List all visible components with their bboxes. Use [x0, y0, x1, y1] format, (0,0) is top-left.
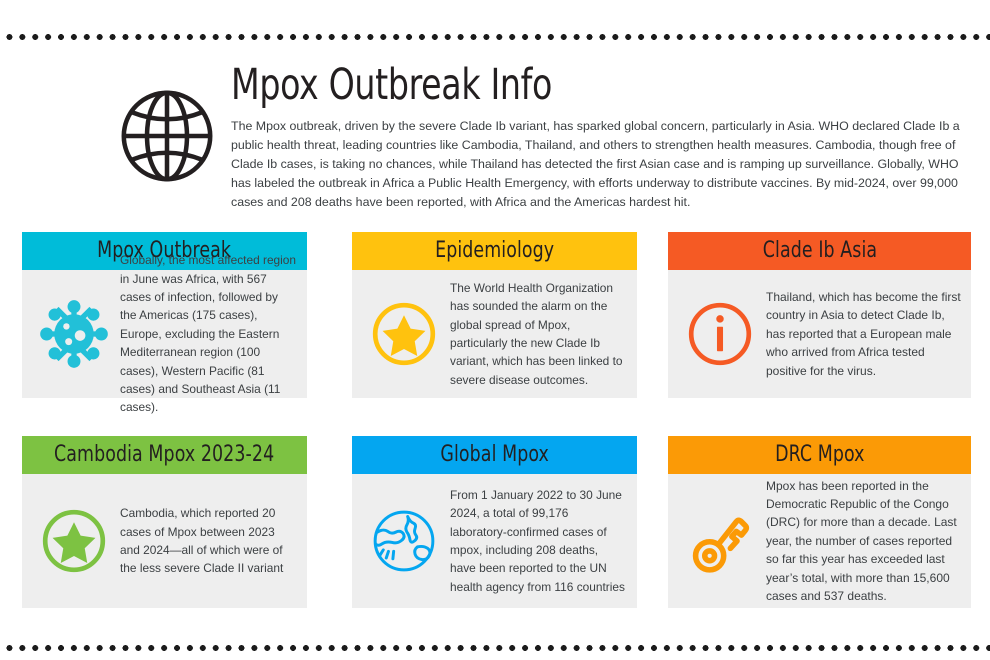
card-drc-mpox[interactable]: DRC Mpox Mpox has been reported in the D… [668, 436, 971, 608]
card-header-clade-ib-asia: Clade Ib Asia [668, 232, 971, 270]
page-title: Mpox Outbreak Info [231, 60, 867, 110]
card-body: Globally, the most affected region in Ju… [22, 270, 307, 398]
infographic-page: Mpox Outbreak Info The Mpox outbreak, dr… [0, 0, 990, 660]
card-title: DRC Mpox [775, 436, 864, 474]
info-circle-icon [674, 288, 766, 380]
card-text: Globally, the most affected region in Ju… [120, 251, 297, 417]
card-header-cambodia-mpox: Cambodia Mpox 2023-24 [22, 436, 307, 474]
card-header-epidemiology: Epidemiology [352, 232, 637, 270]
card-header-global-mpox: Global Mpox [352, 436, 637, 474]
world-globe-icon [358, 495, 450, 587]
card-epidemiology[interactable]: Epidemiology The World Health Organizati… [352, 232, 637, 398]
star-circle-icon [358, 288, 450, 380]
card-title: Cambodia Mpox 2023-24 [54, 436, 274, 474]
bottom-dotted-border [0, 645, 990, 651]
page-header: Mpox Outbreak Info The Mpox outbreak, dr… [0, 60, 990, 210]
card-header-drc-mpox: DRC Mpox [668, 436, 971, 474]
card-clade-ib-asia[interactable]: Clade Ib Asia Thailand, which has become… [668, 232, 971, 398]
card-title: Clade Ib Asia [762, 232, 876, 270]
star-circle-icon [28, 495, 120, 587]
card-body: Mpox has been reported in the Democratic… [668, 474, 971, 608]
card-text: Mpox has been reported in the Democratic… [766, 477, 961, 606]
card-body: Cambodia, which reported 20 cases of Mpo… [22, 474, 307, 608]
globe-icon [113, 82, 221, 190]
card-title: Mpox Outbreak [98, 232, 232, 270]
card-title: Global Mpox [440, 436, 549, 474]
card-text: From 1 January 2022 to 30 June 2024, a t… [450, 486, 627, 596]
virus-icon [28, 288, 120, 380]
card-text: Cambodia, which reported 20 cases of Mpo… [120, 504, 297, 578]
card-text: Thailand, which has become the first cou… [766, 288, 961, 380]
card-cambodia-mpox[interactable]: Cambodia Mpox 2023-24 Cambodia, which re… [22, 436, 307, 608]
card-title: Epidemiology [435, 232, 554, 270]
card-global-mpox[interactable]: Global Mpox From 1 January 2022 to 30 Ju… [352, 436, 637, 608]
card-text: The World Health Organization has sounde… [450, 279, 627, 389]
card-body: From 1 January 2022 to 30 June 2024, a t… [352, 474, 637, 608]
page-intro-paragraph: The Mpox outbreak, driven by the severe … [231, 117, 961, 212]
card-body: Thailand, which has become the first cou… [668, 270, 971, 398]
key-icon [674, 495, 766, 587]
card-body: The World Health Organization has sounde… [352, 270, 637, 398]
top-dotted-border [0, 34, 990, 40]
card-mpox-outbreak[interactable]: Mpox Outbreak [22, 232, 307, 398]
